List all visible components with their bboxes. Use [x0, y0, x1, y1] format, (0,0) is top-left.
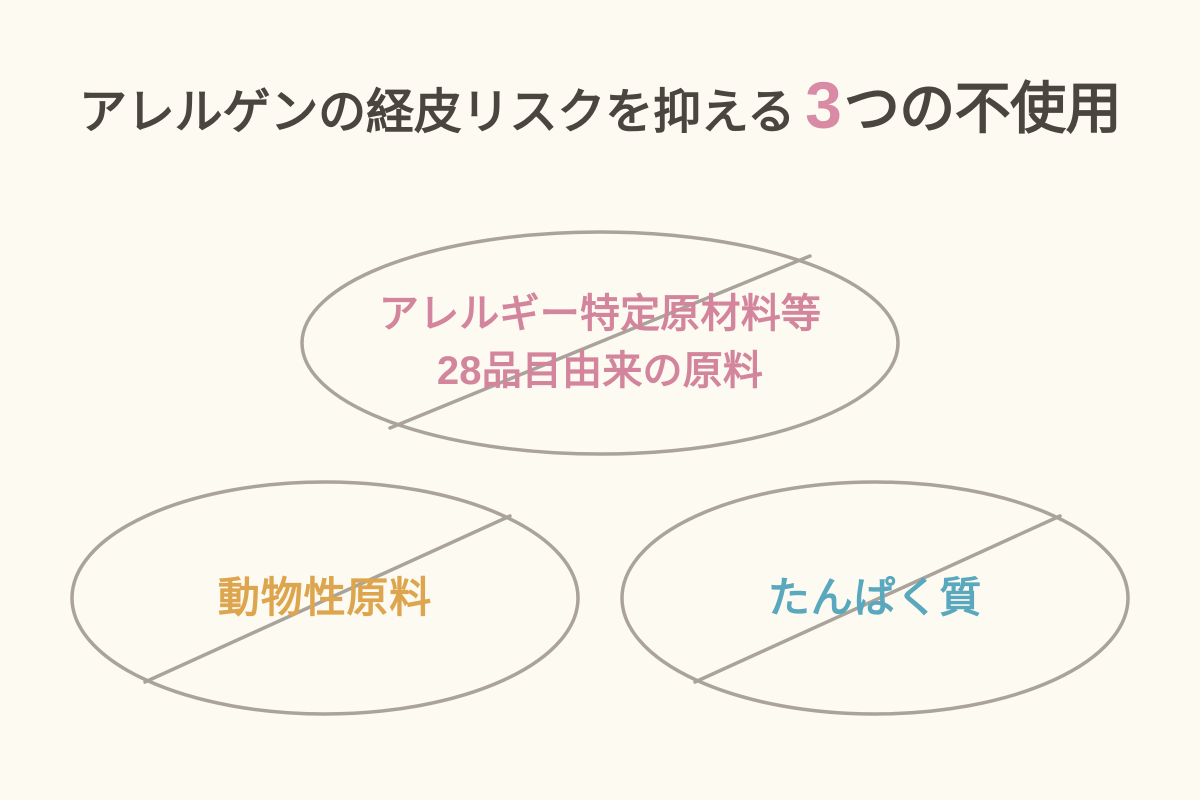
prohibition-item-protein: たんぱく質	[620, 480, 1130, 716]
prohibition-item-animal: 動物性原料	[70, 480, 580, 716]
prohibition-slash-protein	[695, 516, 1060, 682]
page-title-tail: つの不使用	[844, 77, 1121, 140]
page-title: アレルゲンの経皮リスクを抑える3つの不使用	[0, 72, 1200, 138]
prohibition-slash-allergen	[390, 256, 810, 428]
prohibition-slash-animal	[145, 516, 510, 682]
infographic-canvas: アレルゲンの経皮リスクを抑える3つの不使用 アレルギー特定原材料等 28品目由来…	[0, 0, 1200, 800]
page-title-count: 3	[795, 68, 844, 142]
page-title-lead: アレルゲンの経皮リスクを抑える	[79, 86, 795, 139]
prohibition-item-allergen: アレルギー特定原材料等 28品目由来の原料	[300, 230, 900, 456]
